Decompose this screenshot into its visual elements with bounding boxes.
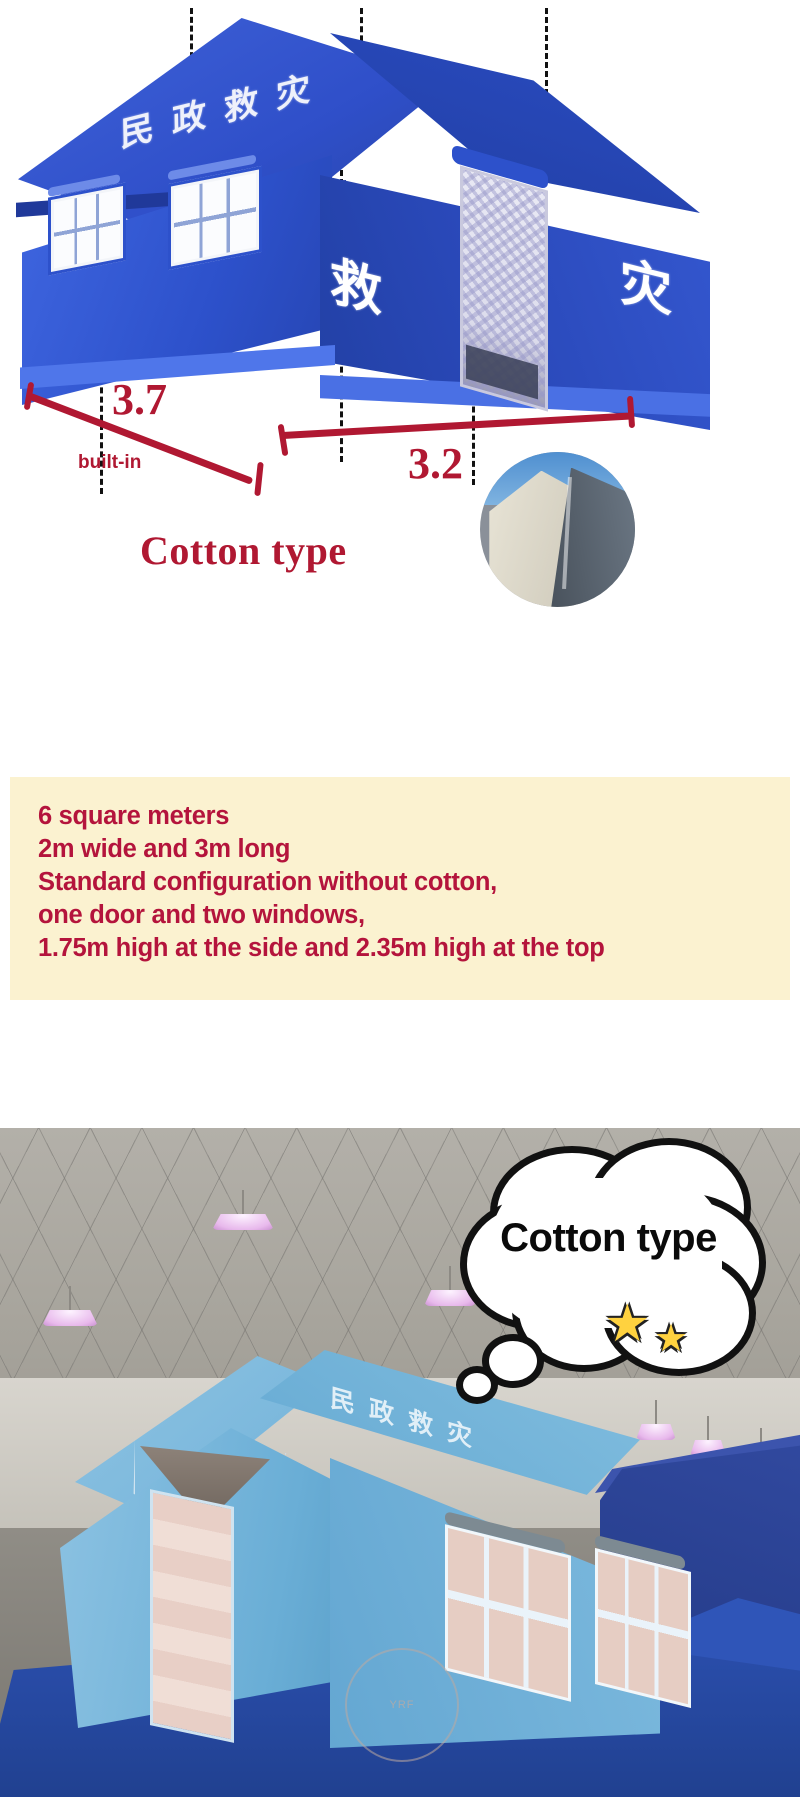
tent-window-1 [48, 182, 126, 275]
dimension-value-width: 3.2 [408, 442, 463, 486]
lamp-cord [707, 1416, 709, 1442]
thought-bubble: Cotton type ★ ★ [452, 1138, 757, 1408]
photo-tent-window-1 [445, 1524, 571, 1701]
spec-line-area: 6 square meters [38, 800, 780, 833]
diagram-caption-cotton-type: Cotton type [140, 527, 347, 574]
ceiling-lamp-1 [42, 1286, 98, 1330]
photo-tent-window-2 [595, 1548, 691, 1708]
star-icon-large: ★ [604, 1294, 651, 1354]
dimension-value-depth: 3.7 [112, 378, 167, 422]
lamp-shade [42, 1310, 98, 1326]
lamp-shade [636, 1424, 676, 1440]
lamp-shade [212, 1214, 274, 1230]
specification-panel: 6 square meters 2m wide and 3m long Stan… [10, 777, 790, 1000]
warehouse-tent-photo-section: 民政救灾 YRF Cotton type ★ ★ [0, 1128, 800, 1797]
spec-line-dimensions: 2m wide and 3m long [38, 833, 780, 866]
ceiling-lamp-5 [690, 1416, 726, 1448]
spec-line-configuration: Standard configuration without cotton, [38, 866, 780, 899]
inset-cotton-tent-photo [480, 452, 635, 607]
window-pane [54, 190, 120, 269]
bubble-tail-small [456, 1366, 498, 1404]
star-icon-small: ★ [654, 1316, 688, 1361]
spec-line-heights: 1.75m high at the side and 2.35m high at… [38, 932, 780, 965]
lamp-cord [449, 1266, 451, 1292]
window-pane [174, 173, 256, 263]
lamp-cord [69, 1286, 71, 1312]
specification-text-list: 6 square meters 2m wide and 3m long Stan… [38, 800, 780, 965]
tent-wall-char-rescue: 救 [330, 239, 382, 327]
tent-diagram-section: 民政救灾 救 灾 3.7 built-in 3.2 Cotton type [0, 0, 800, 660]
lamp-cord [242, 1190, 244, 1216]
ceiling-lamp-2 [212, 1190, 274, 1238]
spec-line-openings: one door and two windows, [38, 899, 780, 932]
photo-tent-door [150, 1489, 234, 1743]
image-watermark: YRF [345, 1648, 459, 1762]
tent-wall-char-disaster: 灾 [620, 239, 672, 327]
built-in-label: built-in [78, 452, 141, 474]
bubble-label-cotton-type: Cotton type [496, 1216, 721, 1261]
tent-window-2 [168, 166, 262, 270]
